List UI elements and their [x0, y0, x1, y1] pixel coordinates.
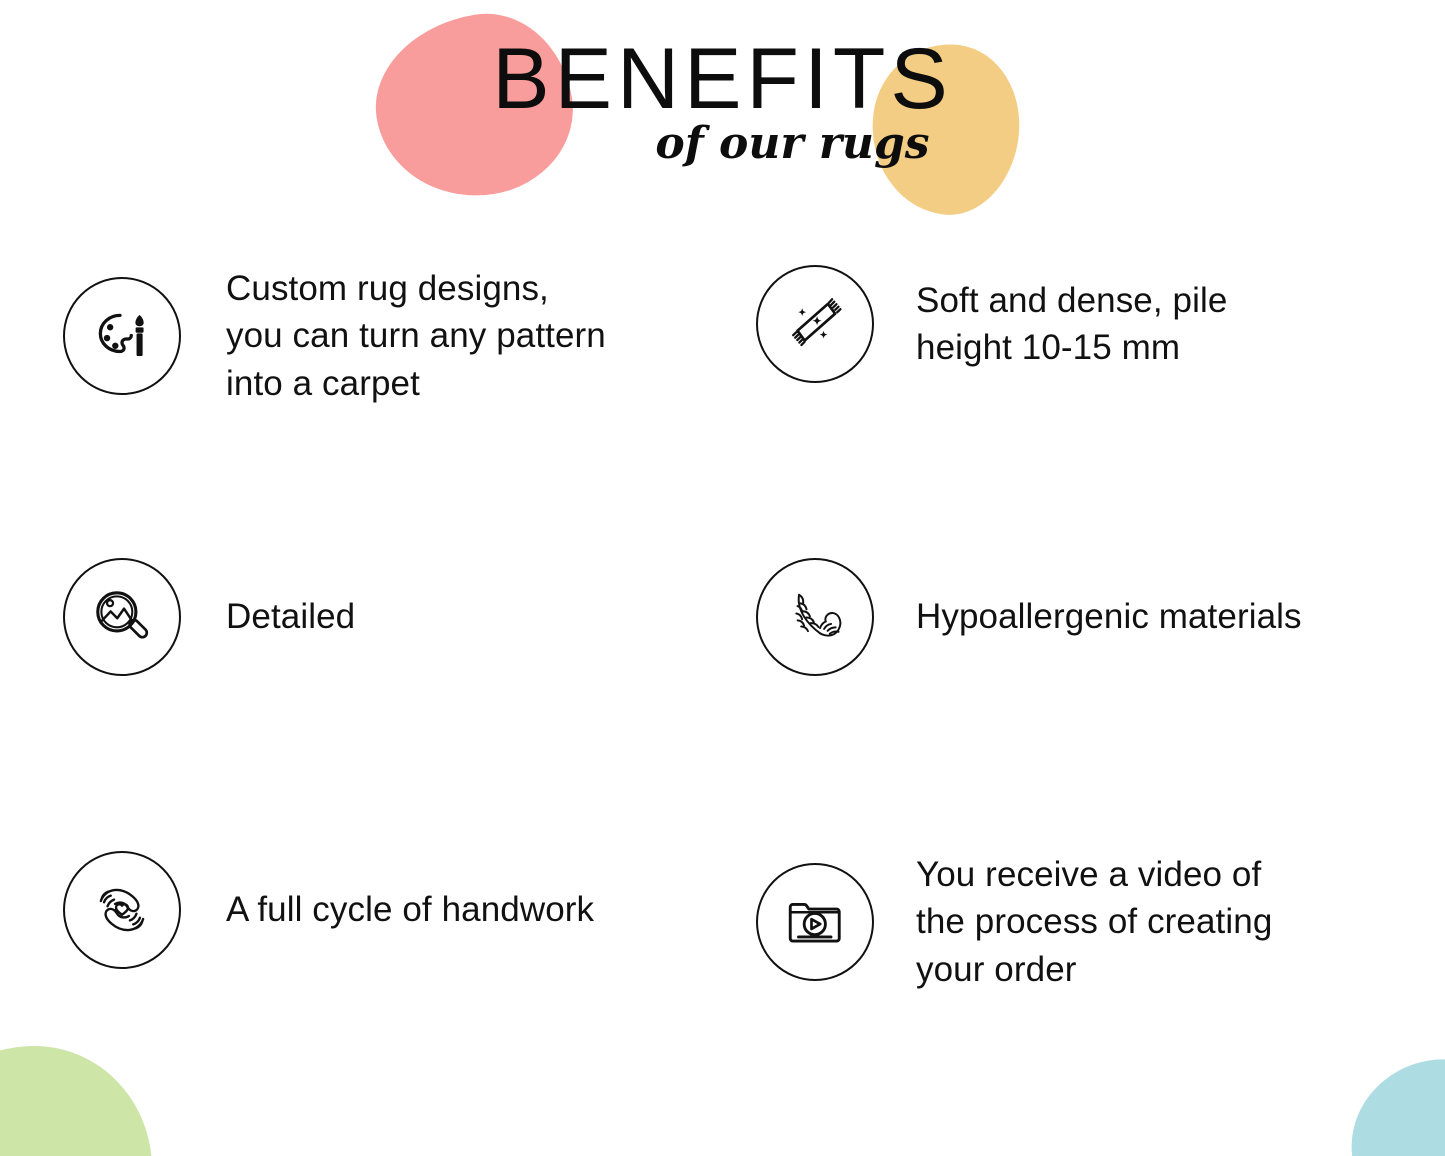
benefit-item-detailed: Detailed — [63, 558, 683, 676]
page-title: BENEFITS — [0, 36, 1445, 122]
benefit-item-video-of-process: You receive a video of the process of cr… — [756, 851, 1376, 993]
benefit-label: Soft and dense, pile height 10-15 mm — [916, 277, 1227, 372]
hands-heart-icon — [63, 851, 181, 969]
benefits-row: A full cycle of handwork You receive a v… — [0, 851, 1445, 1144]
palette-brush-icon — [63, 277, 181, 395]
benefit-label: A full cycle of handwork — [226, 886, 594, 933]
benefits-row: Custom rug designs, you can turn any pat… — [0, 265, 1445, 558]
feather-icon — [756, 558, 874, 676]
benefit-item-soft-and-dense: Soft and dense, pile height 10-15 mm — [756, 265, 1376, 383]
benefits-row: Detailed — [0, 558, 1445, 851]
rug-sparkle-icon — [756, 265, 874, 383]
benefit-item-full-cycle-handwork: A full cycle of handwork — [63, 851, 683, 969]
video-folder-icon — [756, 863, 874, 981]
benefit-item-hypoallergenic: Hypoallergenic materials — [756, 558, 1376, 676]
benefit-label: Detailed — [226, 593, 355, 640]
benefit-item-custom-rug-designs: Custom rug designs, you can turn any pat… — [63, 265, 683, 407]
header: BENEFITS of our rugs — [0, 0, 1445, 230]
benefit-label: You receive a video of the process of cr… — [916, 851, 1272, 993]
benefit-label: Hypoallergenic materials — [916, 593, 1302, 640]
page-subtitle: of our rugs — [0, 122, 1445, 166]
benefits-grid: Custom rug designs, you can turn any pat… — [0, 265, 1445, 1144]
benefit-label: Custom rug designs, you can turn any pat… — [226, 265, 606, 407]
benefits-infographic: BENEFITS of our rugs Custom — [0, 0, 1445, 1156]
magnifier-image-icon — [63, 558, 181, 676]
